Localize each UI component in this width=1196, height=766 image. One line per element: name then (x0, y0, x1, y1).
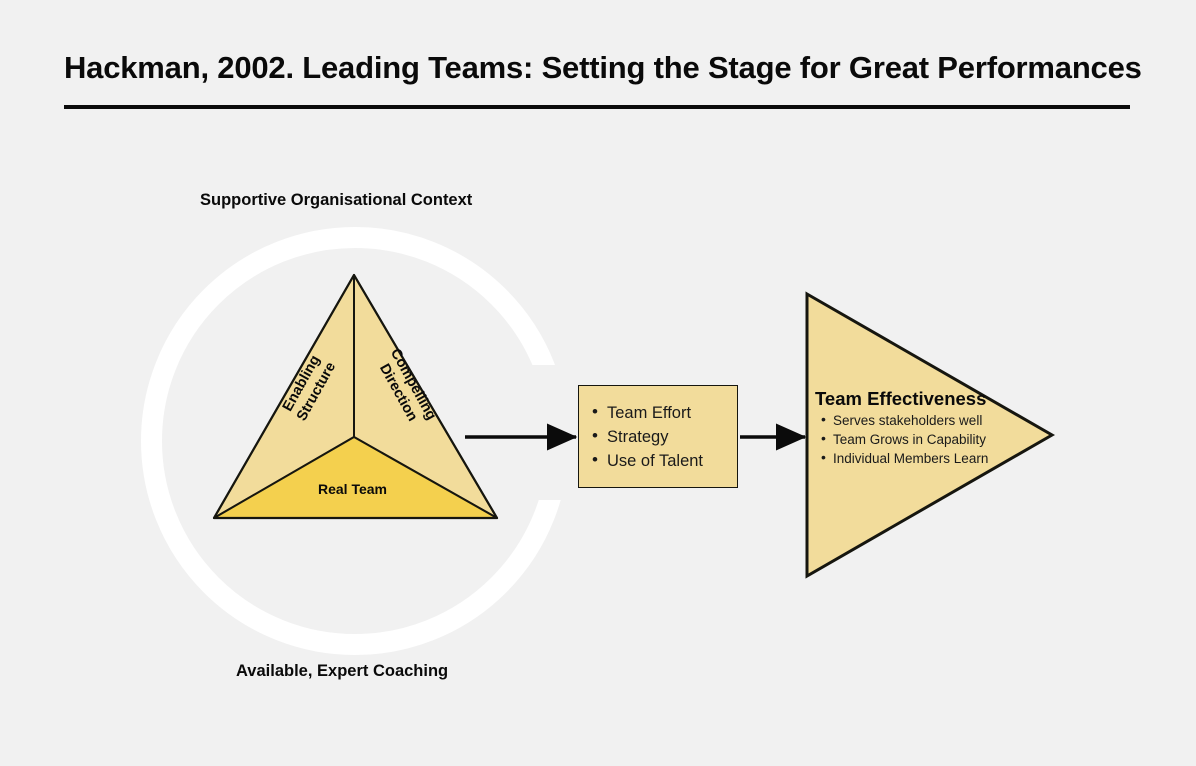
process-list: Team Effort Strategy Use of Talent (579, 386, 737, 473)
team-effectiveness-title: Team Effectiveness (815, 388, 1025, 410)
list-item: Team Effort (607, 401, 737, 425)
real-team-label: Real Team (318, 481, 387, 497)
diagram-graphics (0, 0, 1196, 766)
diagram-canvas: Hackman, 2002. Leading Teams: Setting th… (0, 0, 1196, 766)
list-item: Strategy (607, 425, 737, 449)
supportive-context-label: Supportive Organisational Context (200, 191, 472, 210)
team-effectiveness-block: Team Effectiveness Serves stakeholders w… (815, 388, 1025, 468)
team-effectiveness-list: Serves stakeholders well Team Grows in C… (815, 411, 1025, 468)
list-item: Team Grows in Capability (833, 430, 1025, 449)
list-item: Individual Members Learn (833, 449, 1025, 468)
list-item: Use of Talent (607, 449, 737, 473)
list-item: Serves stakeholders well (833, 411, 1025, 430)
process-box: Team Effort Strategy Use of Talent (578, 385, 738, 488)
expert-coaching-label: Available, Expert Coaching (236, 662, 448, 681)
